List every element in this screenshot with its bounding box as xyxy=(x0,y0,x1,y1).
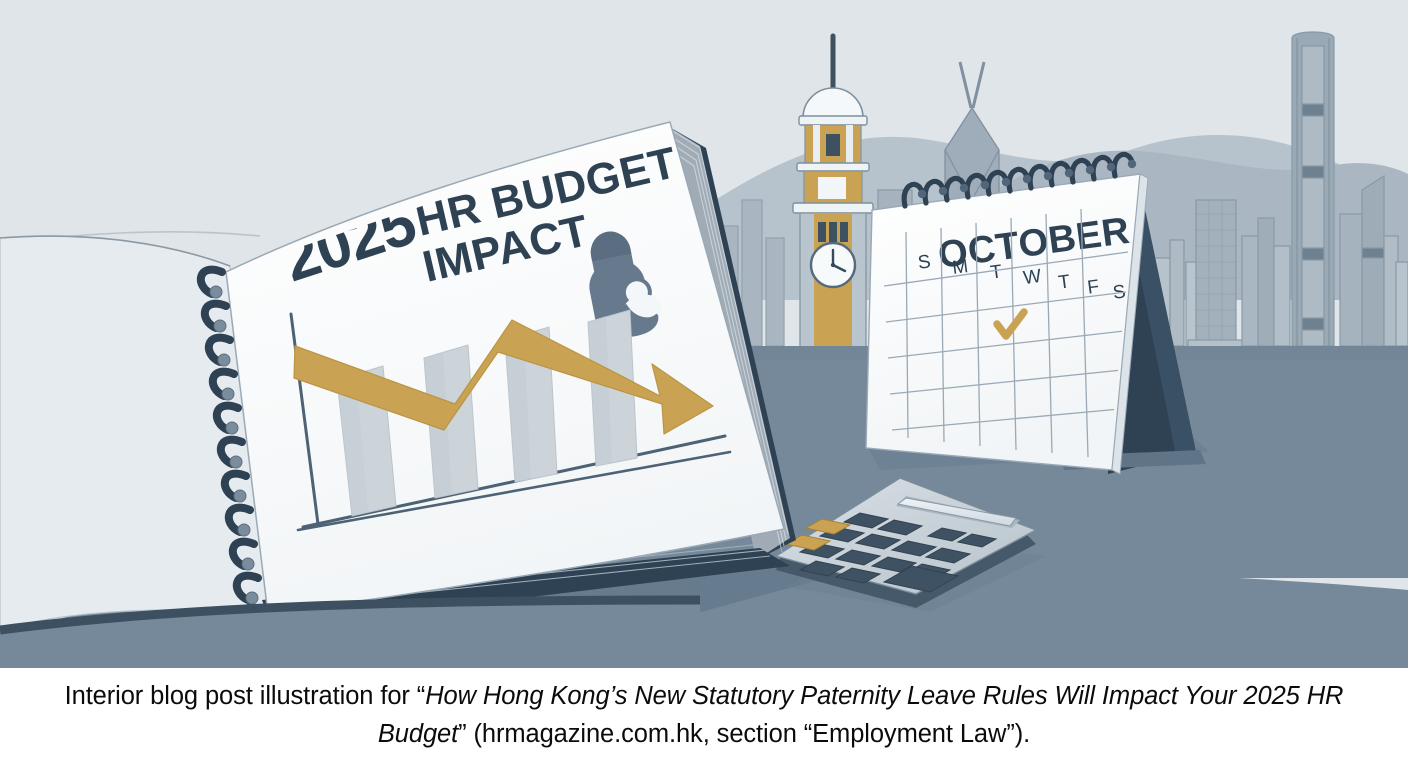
caption-prefix: Interior blog post illustration for “ xyxy=(65,682,426,710)
illustration-page: OCTOBER 2025 S M T W T F S xyxy=(0,0,1408,768)
illustration-canvas: OCTOBER 2025 S M T W T F S xyxy=(0,0,1408,668)
caption-suffix: ” (hrmagazine.com.hk, section “Employmen… xyxy=(458,720,1030,748)
svg-text:W: W xyxy=(1022,266,1043,289)
caption-bar: Interior blog post illustration for “How… xyxy=(0,668,1408,768)
caption-text: Interior blog post illustration for “How… xyxy=(60,677,1348,753)
two-ifc-tower xyxy=(1292,32,1334,346)
